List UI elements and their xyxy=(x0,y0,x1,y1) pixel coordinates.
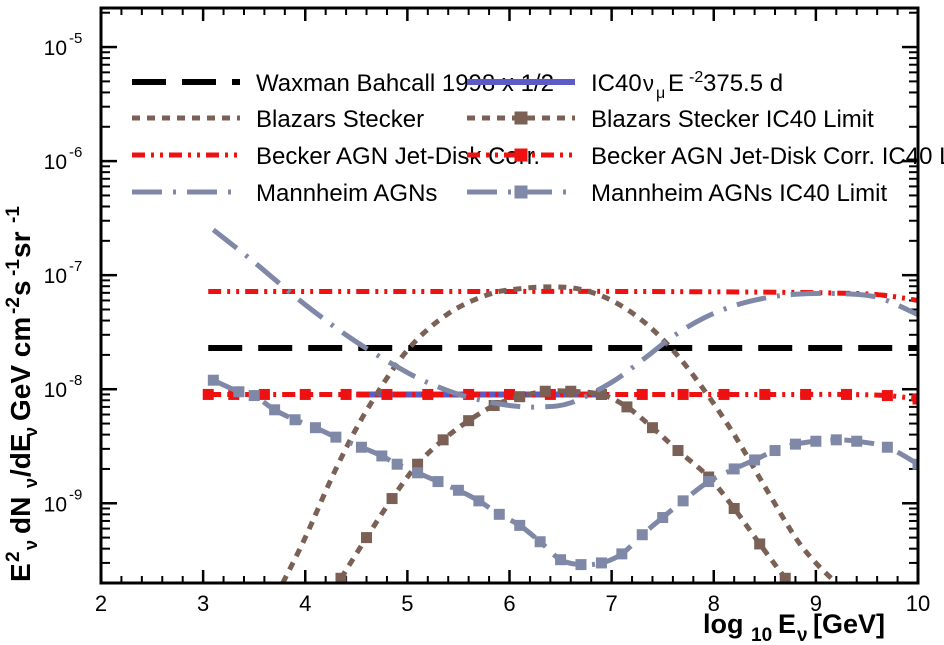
series-marker xyxy=(463,415,474,426)
series-line xyxy=(213,380,918,565)
y-axis-title: E2ν dNν/dEν GeV cm-2 s-1 sr-1 xyxy=(3,206,41,582)
series-marker xyxy=(494,509,505,520)
svg-text:-5: -5 xyxy=(69,30,82,47)
svg-text:10: 10 xyxy=(44,151,67,174)
series-marker xyxy=(422,389,433,400)
series-marker xyxy=(392,459,403,470)
legend-item-mannheim-agn-limit[interactable]: Mannheim AGNs IC40 Limit xyxy=(467,180,887,207)
series-marker xyxy=(300,389,311,400)
series-marker xyxy=(673,445,684,456)
series-line xyxy=(213,230,918,407)
legend-label: Mannheim AGNs IC40 Limit xyxy=(591,180,887,207)
neutrino-flux-plot: 234567891010-510-610-710-810-9log10Eν[Ge… xyxy=(0,0,944,645)
series-marker xyxy=(759,389,770,400)
svg-text:ν: ν xyxy=(21,540,41,550)
svg-text:2: 2 xyxy=(3,551,24,562)
x-tick-label: 10 xyxy=(906,591,930,616)
series-marker xyxy=(341,389,352,400)
legend-item-mannheim-agn[interactable]: Mannheim AGNs xyxy=(132,180,437,207)
legend-label: μ xyxy=(656,85,665,102)
svg-text:[GeV]: [GeV] xyxy=(813,609,885,639)
series-marker xyxy=(387,493,398,504)
svg-text:/dE: /dE xyxy=(5,433,36,477)
series-marker xyxy=(203,389,214,400)
series-6 xyxy=(213,230,918,407)
series-marker xyxy=(647,422,658,433)
series-marker xyxy=(376,450,387,461)
series-marker xyxy=(637,389,648,400)
legend-label: IC40 xyxy=(591,70,642,97)
svg-text:-2: -2 xyxy=(3,297,24,314)
x-tick-label: 6 xyxy=(503,591,515,616)
y-tick-label: 10-6 xyxy=(44,144,83,174)
series-marker xyxy=(249,390,260,401)
svg-text:dN: dN xyxy=(5,497,36,534)
series-marker xyxy=(208,375,219,386)
series-marker xyxy=(657,512,668,523)
series-marker xyxy=(596,557,607,568)
series-marker xyxy=(310,422,321,433)
series-marker xyxy=(703,476,714,487)
svg-text:GeV cm: GeV cm xyxy=(5,317,36,421)
legend: Waxman Bahcall 1998 x 1/2IC40 νμ E-2 375… xyxy=(132,69,944,207)
svg-text:ν: ν xyxy=(21,427,41,437)
svg-text:10: 10 xyxy=(751,625,772,645)
x-tick-label: 2 xyxy=(95,591,107,616)
series-marker xyxy=(361,532,372,543)
svg-text:s: s xyxy=(5,280,36,296)
x-axis-title: log10Eν[GeV] xyxy=(703,609,885,645)
series-marker xyxy=(718,389,729,400)
series-marker xyxy=(433,476,444,487)
legend-label: E xyxy=(668,70,684,97)
legend-label: Blazars Stecker xyxy=(256,106,424,133)
series-marker xyxy=(678,495,689,506)
series-marker xyxy=(473,495,484,506)
series-marker xyxy=(269,404,280,415)
legend-label: -2 xyxy=(689,69,703,86)
legend-label: ν xyxy=(643,71,654,96)
series-marker xyxy=(831,434,842,445)
series-marker xyxy=(412,467,423,478)
axis-titles: log10Eν[GeV]E2ν dNν/dEν GeV cm-2 s-1 sr-… xyxy=(3,206,885,645)
series-marker xyxy=(540,386,551,397)
series-line xyxy=(341,391,785,579)
svg-text:E: E xyxy=(778,609,796,639)
y-tick-label: 10-8 xyxy=(44,372,83,402)
series-marker xyxy=(800,389,811,400)
series-marker xyxy=(575,559,586,570)
x-tick-label: 5 xyxy=(401,591,413,616)
series-marker xyxy=(259,389,270,400)
series-marker xyxy=(621,401,632,412)
y-tick-label: 10-5 xyxy=(44,30,83,60)
svg-text:-9: -9 xyxy=(69,486,82,503)
series-marker xyxy=(882,442,893,453)
svg-text:ν: ν xyxy=(21,478,41,488)
legend-marker xyxy=(515,149,528,162)
series-marker xyxy=(330,432,341,443)
series-marker xyxy=(637,529,648,540)
svg-text:ν: ν xyxy=(797,625,808,645)
x-tick-label: 7 xyxy=(606,591,618,616)
x-tick-label: 3 xyxy=(197,591,209,616)
series-marker xyxy=(514,520,525,531)
series-marker xyxy=(851,436,862,447)
series-marker xyxy=(555,554,566,565)
series-marker xyxy=(453,485,464,496)
svg-text:10: 10 xyxy=(44,265,67,288)
series-marker xyxy=(535,536,546,547)
svg-text:sr: sr xyxy=(5,231,36,258)
series-marker xyxy=(438,434,449,445)
series-marker xyxy=(790,439,801,450)
series-marker xyxy=(290,414,301,425)
legend-label: 375.5 d xyxy=(703,70,783,97)
svg-text:-8: -8 xyxy=(69,372,82,389)
legend-marker xyxy=(515,186,528,199)
svg-text:-1: -1 xyxy=(3,259,24,276)
series-marker xyxy=(514,391,525,402)
legend-marker xyxy=(515,112,528,125)
svg-text:E: E xyxy=(5,563,36,582)
series-marker xyxy=(729,503,740,514)
series-marker xyxy=(841,389,852,400)
x-axis: 2345678910 xyxy=(95,8,930,616)
series-marker xyxy=(565,386,576,397)
svg-text:log: log xyxy=(703,609,744,639)
svg-text:10: 10 xyxy=(44,379,67,402)
svg-text:-6: -6 xyxy=(69,144,82,161)
series-marker xyxy=(754,538,765,549)
legend-label: Mannheim AGNs xyxy=(256,180,437,207)
svg-text:-1: -1 xyxy=(3,206,24,223)
legend-label: Blazars Stecker IC40 Limit xyxy=(591,106,874,133)
series-line xyxy=(208,394,918,399)
series-marker xyxy=(381,389,392,400)
svg-text:-7: -7 xyxy=(69,258,82,275)
legend-item-blazars-stecker-limit[interactable]: Blazars Stecker IC40 Limit xyxy=(467,106,874,133)
svg-text:10: 10 xyxy=(44,493,67,516)
series-marker xyxy=(770,445,781,456)
series-marker xyxy=(749,454,760,465)
series-marker xyxy=(882,390,893,401)
legend-label: Becker AGN Jet-Disk Corr. IC40 Limit xyxy=(591,143,944,170)
plot-canvas: 234567891010-510-610-710-810-9log10Eν[Ge… xyxy=(0,0,944,645)
series-marker xyxy=(233,386,244,397)
legend-item-blazars-stecker[interactable]: Blazars Stecker xyxy=(132,106,424,133)
x-tick-label: 4 xyxy=(299,591,311,616)
data-series-group xyxy=(203,230,924,584)
series-marker xyxy=(729,463,740,474)
svg-text:10: 10 xyxy=(44,37,67,60)
series-marker xyxy=(810,436,821,447)
series-marker xyxy=(616,548,627,559)
series-marker xyxy=(356,442,367,453)
series-marker xyxy=(678,389,689,400)
y-tick-label: 10-7 xyxy=(44,258,83,288)
y-tick-label: 10-9 xyxy=(44,486,83,516)
